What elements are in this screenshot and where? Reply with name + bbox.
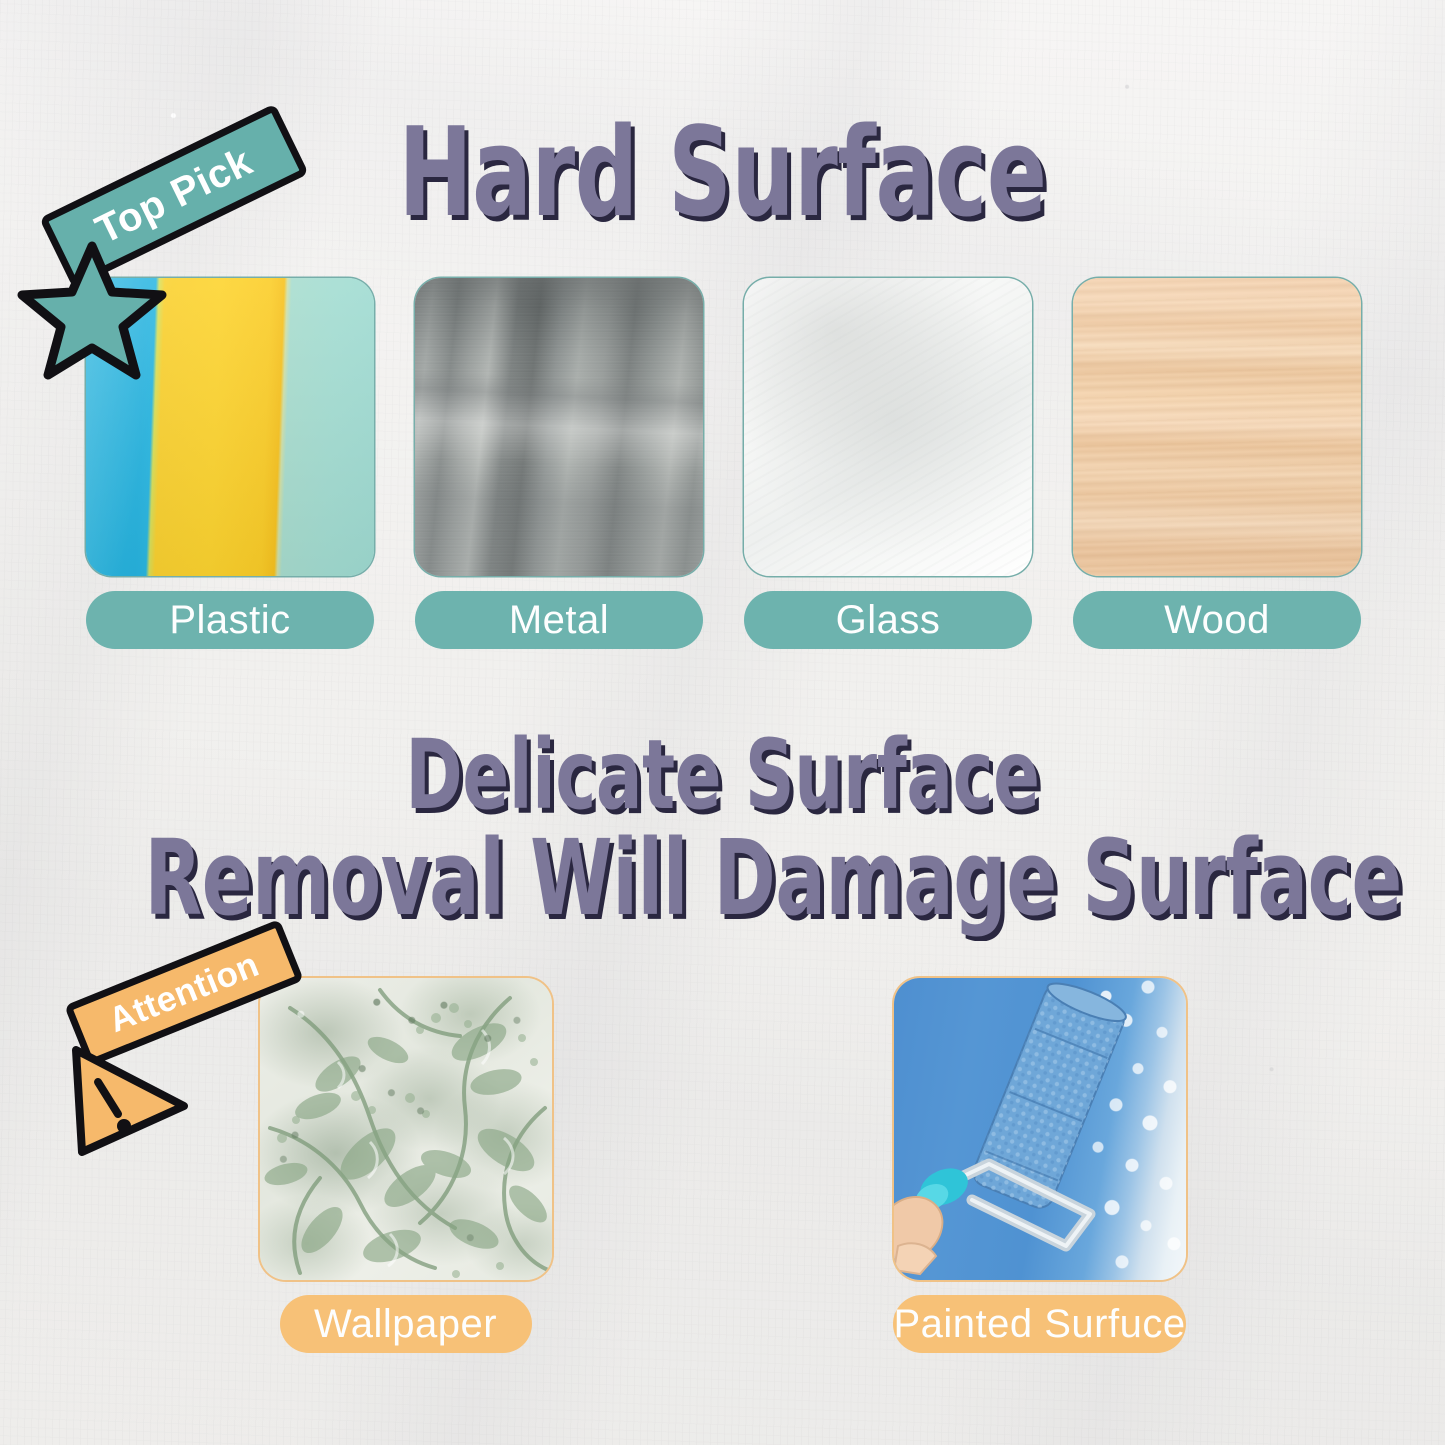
- hard-surface-item-metal[interactable]: Metal: [415, 278, 703, 649]
- delicate-surface-item-painted[interactable]: Painted Surfuce: [894, 978, 1186, 1353]
- wallpaper-damask-pattern: [260, 978, 552, 1280]
- delicate-surface-item-wallpaper[interactable]: Wallpaper: [260, 978, 552, 1353]
- glass-label: Glass: [744, 591, 1032, 649]
- painted-surface-swatch: [894, 978, 1186, 1280]
- paint-roller-illustration: [894, 978, 1186, 1280]
- hard-surface-item-glass[interactable]: Glass: [744, 278, 1032, 649]
- delicate-surface-heading-line1: Delicate Surface: [145, 727, 1301, 823]
- hard-surface-item-wood[interactable]: Wood: [1073, 278, 1361, 649]
- wallpaper-label: Wallpaper: [280, 1295, 532, 1353]
- wood-swatch: [1073, 278, 1361, 576]
- delicate-surface-items: Wallpaper: [0, 978, 1445, 1353]
- metal-swatch: [415, 278, 703, 576]
- wallpaper-swatch: [260, 978, 552, 1280]
- hard-surface-items: Plastic Metal Glass Wood: [86, 278, 1361, 649]
- hard-surface-heading: Hard Surface: [145, 112, 1301, 235]
- glass-swatch: [744, 278, 1032, 576]
- plastic-label: Plastic: [86, 591, 374, 649]
- plastic-swatch: [86, 278, 374, 576]
- infographic-page: Hard Surface Plastic Metal Glass Wood To…: [0, 0, 1445, 1445]
- delicate-surface-heading-line2: Removal Will Damage Surface: [145, 826, 1301, 930]
- wood-label: Wood: [1073, 591, 1361, 649]
- metal-label: Metal: [415, 591, 703, 649]
- painted-surface-label: Painted Surfuce: [893, 1295, 1185, 1353]
- hard-surface-item-plastic[interactable]: Plastic: [86, 278, 374, 649]
